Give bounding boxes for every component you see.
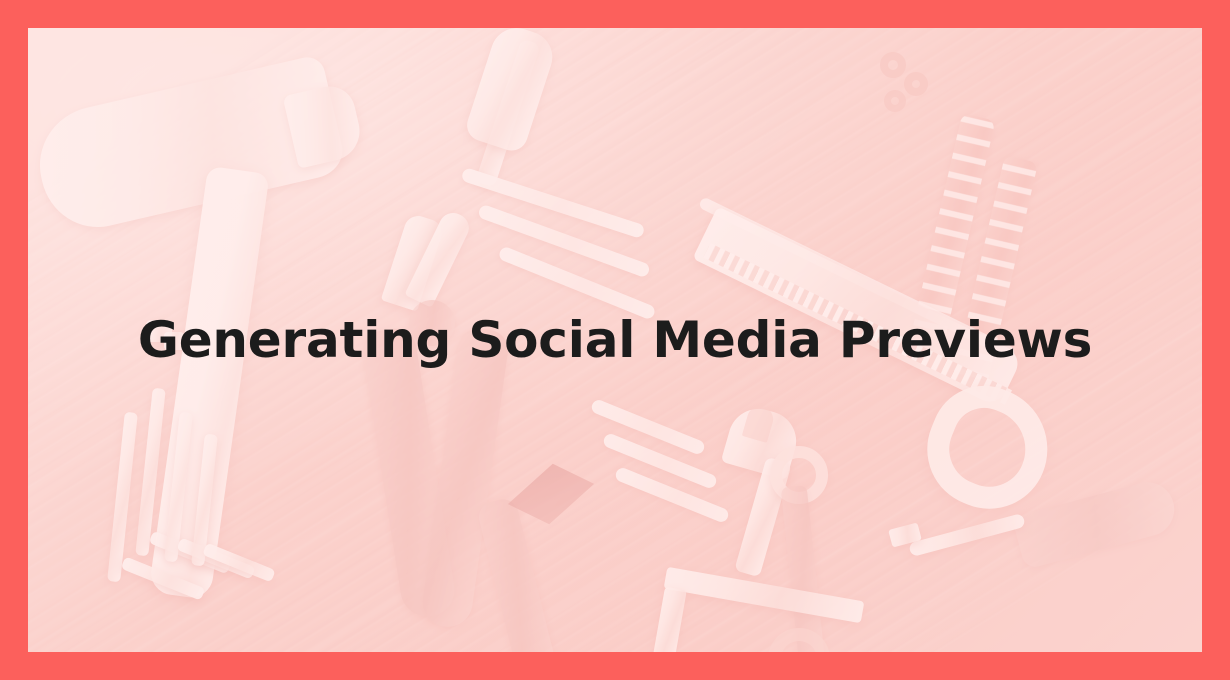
card-canvas: Generating Social Media Previews bbox=[28, 28, 1202, 652]
title-container: Generating Social Media Previews bbox=[28, 28, 1202, 652]
page-title: Generating Social Media Previews bbox=[138, 313, 1092, 368]
social-media-preview-card: Generating Social Media Previews bbox=[0, 0, 1230, 680]
